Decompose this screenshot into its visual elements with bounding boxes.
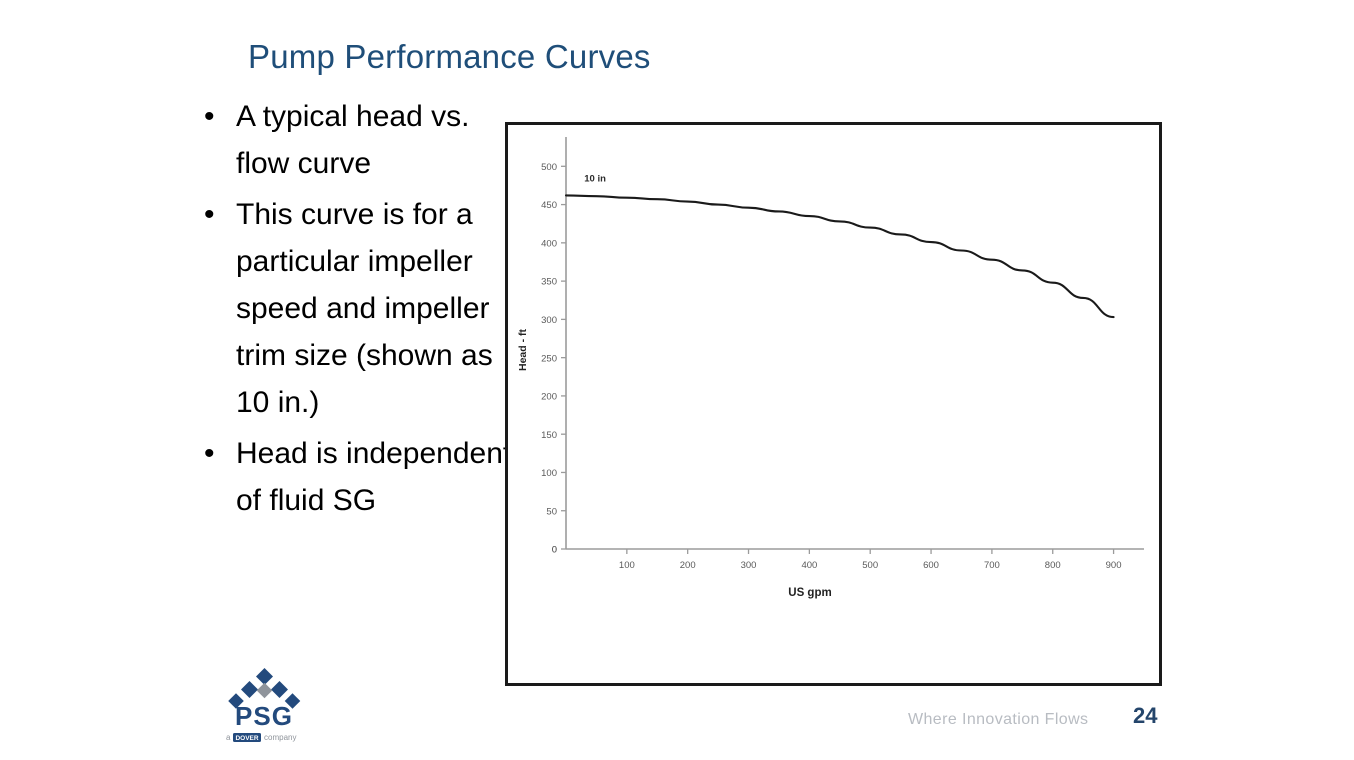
head-flow-curve [566, 195, 1114, 317]
x-axis-tick-label: 900 [1106, 560, 1122, 571]
list-item-label: This curve is for a particular impeller … [236, 198, 493, 419]
bullet-marker-icon: • [204, 191, 215, 238]
slide-number: 24 [1133, 703, 1157, 729]
psg-logo: PSG a DOVER company [206, 668, 322, 746]
y-axis-tick-label: 150 [541, 430, 557, 441]
logo-wordmark-text: PSG [235, 701, 293, 731]
x-axis-tick-label: 700 [984, 560, 1000, 571]
y-axis-tick-label: 50 [546, 506, 557, 517]
y-axis-tick-label: 250 [541, 353, 557, 364]
y-axis-tick-label: 100 [541, 468, 557, 479]
list-item: • Head is independent of fluid SG [196, 430, 516, 524]
x-axis-tick-label: 600 [923, 560, 939, 571]
logo-byline-brand: DOVER [235, 735, 258, 742]
y-axis-tick-label: 400 [541, 238, 557, 249]
y-axis-tick-label: 300 [541, 315, 557, 326]
logo-byline-prefix: a [226, 733, 231, 742]
curve-annotation-label: 10 in [584, 174, 606, 185]
bullet-marker-icon: • [204, 430, 215, 477]
logo-wordmark: PSG [235, 701, 293, 731]
x-axis-tick-label: 400 [801, 560, 817, 571]
y-axis-tick-label: 500 [541, 162, 557, 173]
pump-curve-chart: 0501001502002503003504004505000100200300… [505, 122, 1162, 686]
logo-byline-suffix: company [264, 733, 296, 742]
x-axis-tick-label: 300 [741, 560, 757, 571]
x-axis-tick-label: 100 [619, 560, 635, 571]
y-axis-tick-label: 350 [541, 277, 557, 288]
bullet-list: • A typical head vs. flow curve • This c… [196, 93, 516, 528]
list-item: • This curve is for a particular impelle… [196, 191, 516, 426]
y-axis-title: Head - ft [517, 328, 529, 371]
page-title: Pump Performance Curves [248, 38, 651, 76]
x-axis-tick-label: 0 [552, 545, 557, 556]
x-axis-title: US gpm [788, 587, 831, 599]
bullet-marker-icon: • [204, 93, 215, 140]
x-axis-tick-label: 800 [1045, 560, 1061, 571]
logo-byline: a DOVER company [226, 733, 296, 742]
list-item: • A typical head vs. flow curve [196, 93, 516, 187]
y-axis-tick-label: 450 [541, 200, 557, 211]
y-axis-tick-label: 200 [541, 392, 557, 403]
list-item-label: Head is independent of fluid SG [236, 437, 511, 517]
x-axis-tick-label: 200 [680, 560, 696, 571]
x-axis-tick-label: 500 [862, 560, 878, 571]
chart-canvas: 0501001502002503003504004505000100200300… [508, 125, 1159, 683]
footer-tagline: Where Innovation Flows [908, 711, 1088, 729]
list-item-label: A typical head vs. flow curve [236, 100, 469, 180]
